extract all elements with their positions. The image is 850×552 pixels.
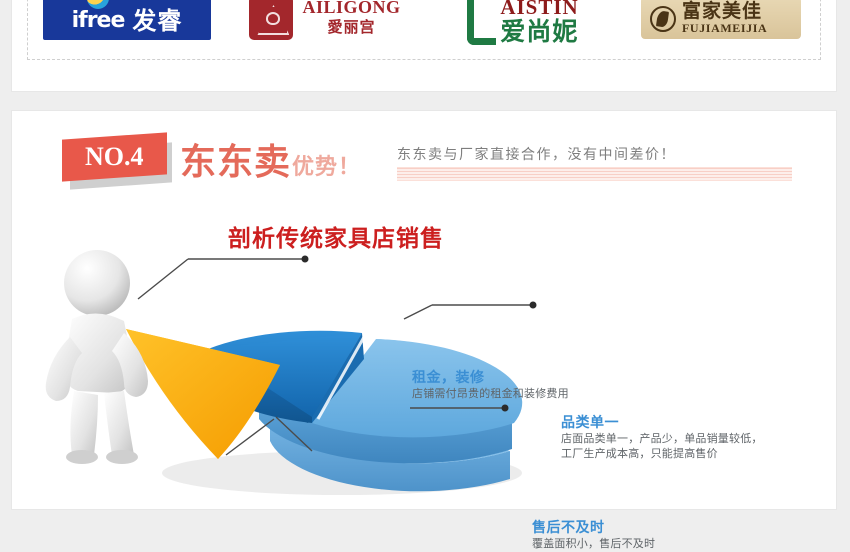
ifree-wordmark: ifree — [72, 8, 125, 33]
ifree-chinese-name: 发睿 — [132, 1, 182, 36]
fujiameijia-mark-icon — [649, 5, 675, 31]
brand-logo-cell-4[interactable]: 富家美佳 FUJIAMEIJIA — [622, 0, 820, 61]
advantage-tagline: 东东卖与厂家直接合作，没有中间差价！ — [397, 144, 676, 164]
section-number-badge: NO.4 — [62, 136, 172, 188]
badge-label: NO.4 — [85, 142, 144, 172]
ailigong-logo: AILIGONG 愛丽宫 — [249, 0, 400, 40]
leader-line-category-d — [404, 305, 432, 319]
ifree-logo: ifree 发睿 — [43, 0, 211, 40]
callout-rent-decoration: 租金，装修 店铺需付昂贵的租金和装修费用 — [412, 369, 569, 402]
brand-logo-cell-1[interactable]: ifree 发睿 — [28, 0, 226, 61]
advantage-heading-sub: 优势！ — [292, 149, 361, 181]
fujiameijia-chinese-name: 富家美佳 — [682, 2, 767, 22]
brand-logo-cell-2[interactable]: AILIGONG 愛丽宫 — [226, 0, 424, 61]
callout-rent-title: 租金，装修 — [412, 369, 569, 387]
brand-logos-panel: ifree 发睿 AILIGONG 愛丽宫 — [11, 0, 837, 92]
callout-after-sales: 售后不及时 覆盖面积小，售后不及时 — [532, 519, 655, 552]
badge-plate: NO.4 — [62, 132, 167, 181]
aistin-hook-icon — [467, 0, 496, 45]
callout-single-category: 品类单一 店面品类单一，产品少，单品销量较低， 工厂生产成本高，只能提高售价 — [561, 414, 763, 463]
ailigong-mark-icon — [249, 0, 293, 40]
aistin-logo: AISTIN 爱尚妮 — [467, 0, 578, 45]
brand-logo-cell-3[interactable]: AISTIN 爱尚妮 — [424, 0, 622, 61]
callout-rent-desc: 店铺需付昂贵的租金和装修费用 — [412, 387, 569, 403]
advantage-heading-main: 东东卖 — [180, 133, 291, 185]
pie-chart-area: 租金，装修 店铺需付昂贵的租金和装修费用 品类单一 店面品类单一，产品少，单品销… — [12, 241, 838, 511]
brand-logos-dashed-frame: ifree 发睿 AILIGONG 愛丽宫 — [27, 0, 821, 60]
aistin-text: AISTIN 爱尚妮 — [500, 0, 578, 45]
ailigong-text: AILIGONG 愛丽宫 — [302, 2, 400, 35]
callout-aftersales-title: 售后不及时 — [532, 519, 655, 537]
callout-category-desc-line1: 店面品类单一，产品少，单品销量较低， — [561, 432, 763, 448]
callout-category-desc-line2: 工厂生产成本高，只能提高售价 — [561, 447, 763, 463]
advantage-panel: NO.4 东东卖 优势！ 东东卖与厂家直接合作，没有中间差价！ 剖析传统家具店销… — [11, 110, 837, 510]
leader-line-rent-d — [138, 259, 188, 299]
advantage-heading: 东东卖 优势！ — [180, 133, 361, 185]
fujiameijia-text: 富家美佳 FUJIAMEIJIA — [682, 2, 767, 35]
ailigong-chinese-name: 愛丽宫 — [327, 20, 375, 35]
callout-aftersales-desc: 覆盖面积小，售后不及时 — [532, 537, 655, 552]
brand-logo-row: ifree 发睿 AILIGONG 愛丽宫 — [28, 0, 820, 61]
page-root: ifree 发睿 AILIGONG 愛丽宫 — [0, 0, 850, 466]
callout-category-title: 品类单一 — [561, 414, 763, 432]
ailigong-english-name: AILIGONG — [302, 0, 400, 16]
3d-person-figure — [46, 250, 148, 464]
aistin-chinese-name: 爱尚妮 — [500, 20, 578, 45]
aistin-english-name: AISTIN — [500, 0, 578, 18]
advantage-striped-divider — [397, 167, 792, 181]
fujiameijia-logo: 富家美佳 FUJIAMEIJIA — [641, 0, 801, 39]
fujiameijia-english-name: FUJIAMEIJIA — [682, 22, 767, 35]
